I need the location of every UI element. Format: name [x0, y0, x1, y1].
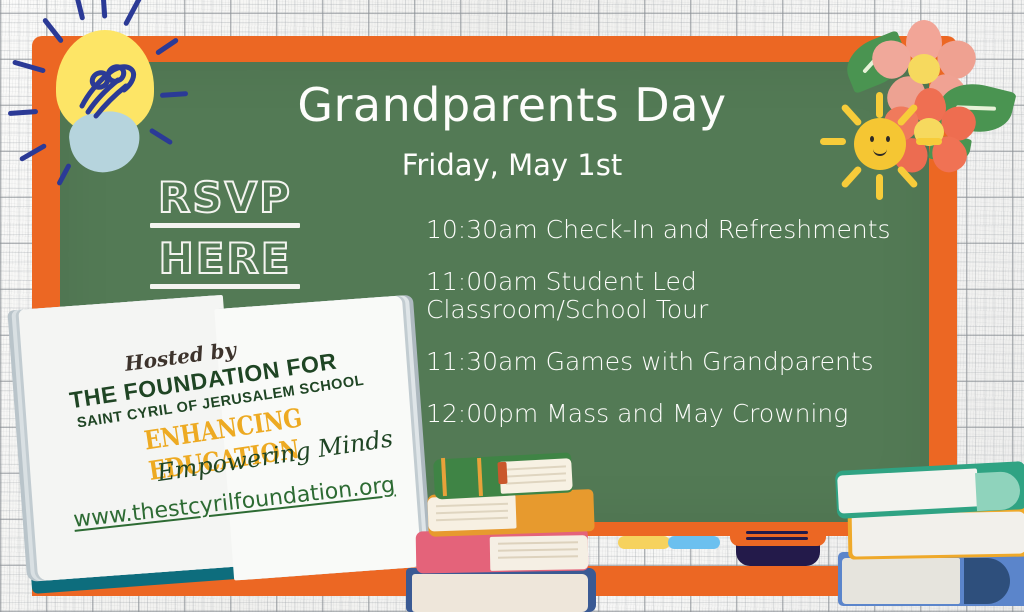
- list-item: 11:30am Games with Grandparents: [426, 348, 946, 376]
- list-item: 12:00pm Mass and May Crowning: [426, 400, 946, 428]
- list-item: 11:00am Student Led Classroom/School Tou…: [426, 268, 946, 324]
- here-label: HERE: [150, 237, 300, 281]
- page-title: Grandparents Day: [0, 78, 1024, 132]
- rsvp-label: RSVP: [150, 176, 300, 220]
- rsvp-here-callout[interactable]: RSVP HERE: [150, 176, 300, 298]
- grandparents-day-poster: Grandparents Day Friday, May 1st RSVP HE…: [0, 0, 1024, 612]
- chalk-stick-icon: [668, 536, 720, 549]
- chalk-eraser-icon: [730, 524, 830, 568]
- book-stack-icon: [840, 444, 1024, 612]
- list-item: 10:30am Check-In and Refreshments: [426, 216, 946, 244]
- book-stack-icon: [398, 448, 628, 612]
- foundation-logo[interactable]: Hosted by THE FOUNDATION FOR SAINT CYRIL…: [18, 296, 418, 596]
- rsvp-underline: [150, 223, 300, 228]
- schedule-list: 10:30am Check-In and Refreshments 11:00a…: [426, 216, 946, 452]
- foundation-website-link[interactable]: www.thestcyrilfoundation.org: [72, 473, 396, 533]
